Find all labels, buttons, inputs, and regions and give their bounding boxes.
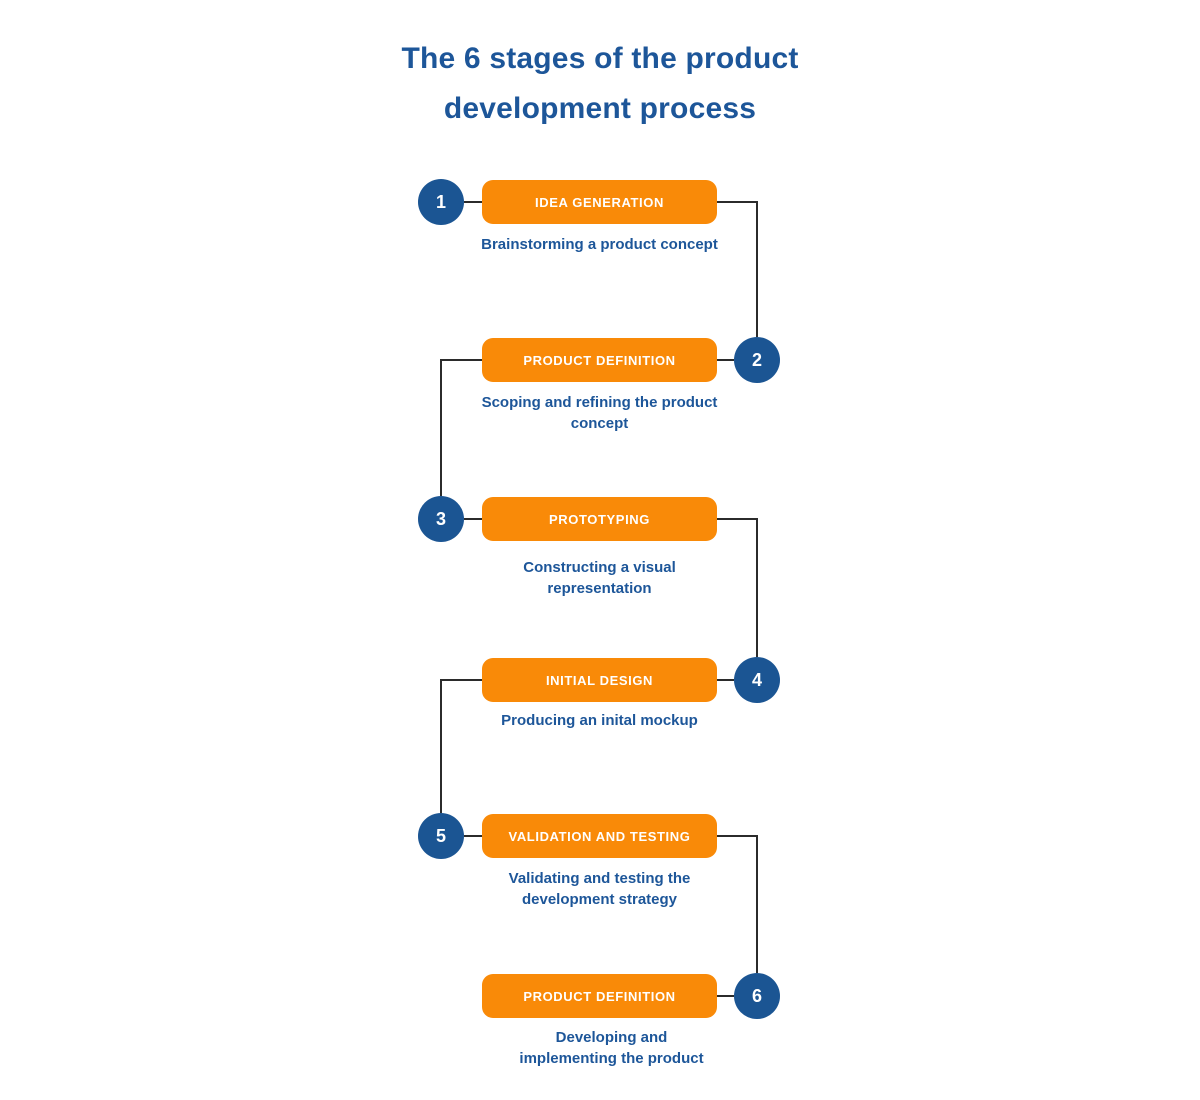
stage-4-bar[interactable]: INITIAL DESIGN [482, 658, 717, 702]
stage-1-number: 1 [436, 193, 446, 211]
stage-4-description: Producing an inital mockup [479, 710, 720, 731]
stage-2-description: Scoping and refining the product concept [479, 392, 720, 434]
stage-6-label: PRODUCT DEFINITION [523, 989, 675, 1004]
stage-5-number: 5 [436, 827, 446, 845]
stage-4-number-badge[interactable]: 4 [734, 657, 780, 703]
stage-1-description: Brainstorming a product concept [479, 234, 720, 255]
stage-1-bar[interactable]: IDEA GENERATION [482, 180, 717, 224]
stage-5-label: VALIDATION AND TESTING [509, 829, 691, 844]
stage-5-bar[interactable]: VALIDATION AND TESTING [482, 814, 717, 858]
stage-4-label: INITIAL DESIGN [546, 673, 653, 688]
stage-2-bar[interactable]: PRODUCT DEFINITION [482, 338, 717, 382]
stage-2-number-badge[interactable]: 2 [734, 337, 780, 383]
stage-4-number: 4 [752, 671, 762, 689]
stage-2-label: PRODUCT DEFINITION [523, 353, 675, 368]
stage-flow: 1 IDEA GENERATION Brainstorming a produc… [0, 0, 1200, 1100]
stage-5-description: Validating and testing the development s… [479, 868, 720, 910]
stage-2-number: 2 [752, 351, 762, 369]
stage-3-label: PROTOTYPING [549, 512, 650, 527]
stage-3-number-badge[interactable]: 3 [418, 496, 464, 542]
stage-3-description: Constructing a visual representation [479, 557, 720, 599]
stage-5-number-badge[interactable]: 5 [418, 813, 464, 859]
stage-1-label: IDEA GENERATION [535, 195, 664, 210]
infographic-canvas: The 6 stages of the product development … [0, 0, 1200, 1100]
stage-1-number-badge[interactable]: 1 [418, 179, 464, 225]
stage-6-number-badge[interactable]: 6 [734, 973, 780, 1019]
stage-6-number: 6 [752, 987, 762, 1005]
stage-6-description: Developing and implementing the product [519, 1027, 704, 1069]
stage-3-bar[interactable]: PROTOTYPING [482, 497, 717, 541]
stage-3-number: 3 [436, 510, 446, 528]
stage-6-bar[interactable]: PRODUCT DEFINITION [482, 974, 717, 1018]
